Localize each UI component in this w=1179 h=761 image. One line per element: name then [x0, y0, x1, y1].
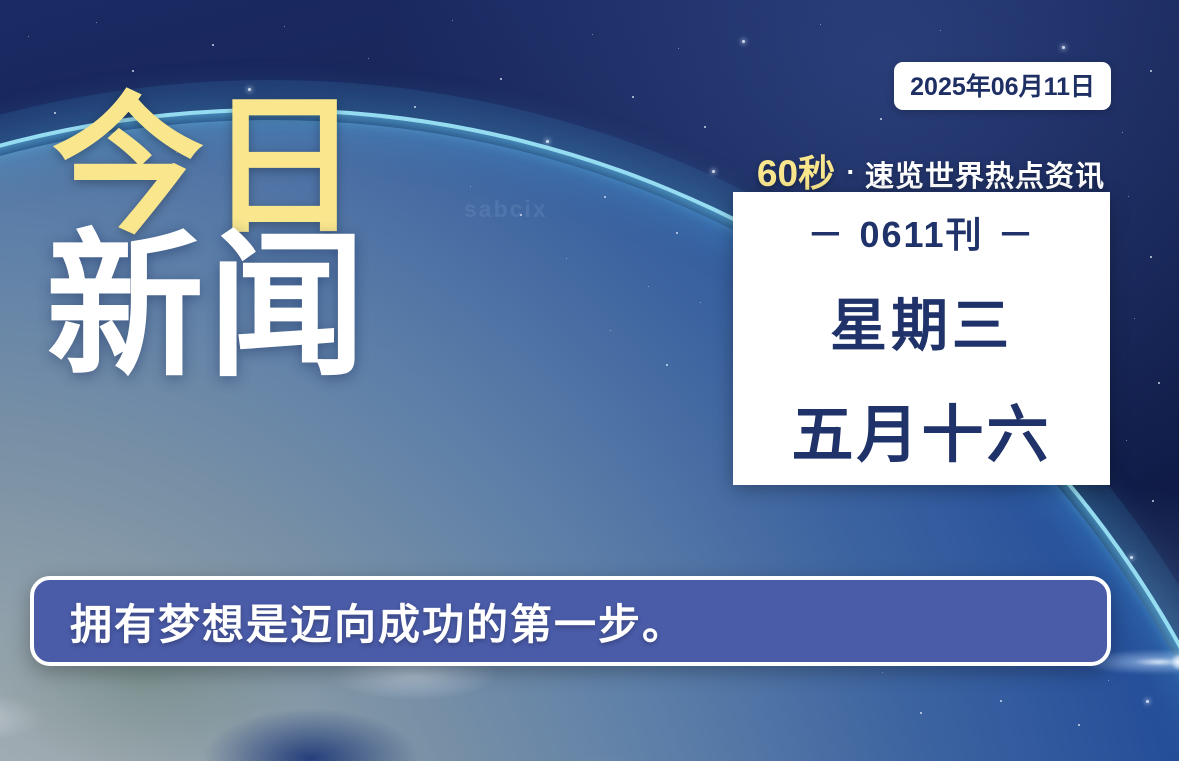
tagline-separator-dot: · [847, 157, 856, 187]
date-info-card: －0611刊－ 星期三 五月十六 [733, 192, 1110, 485]
quote-text: 拥有梦想是迈向成功的第一步。 [34, 591, 686, 652]
date-badge: 2025年06月11日 [894, 62, 1111, 110]
page-title: 今日 新闻 [52, 96, 370, 381]
weekday-label: 星期三 [830, 280, 1013, 362]
tagline: 60秒 · 速览世界热点资讯 [757, 143, 1105, 197]
page-title-line2: 新闻 [46, 233, 370, 382]
news-poster-canvas: sabcix 今日 新闻 2025年06月11日 60秒 · 速览世界热点资讯 … [0, 0, 1179, 761]
background-watermark: sabcix [464, 196, 548, 223]
issue-number: 0611刊 [859, 214, 983, 255]
tagline-description: 速览世界热点资讯 [865, 161, 1105, 193]
quote-banner: 拥有梦想是迈向成功的第一步。 [30, 576, 1111, 666]
tagline-seconds: 60秒 [757, 153, 835, 194]
issue-number-row: －0611刊－ [793, 206, 1049, 258]
lunar-date-label: 五月十六 [791, 384, 1051, 474]
issue-dash-right-icon: － [998, 214, 1036, 255]
issue-dash-left-icon: － [807, 214, 845, 255]
